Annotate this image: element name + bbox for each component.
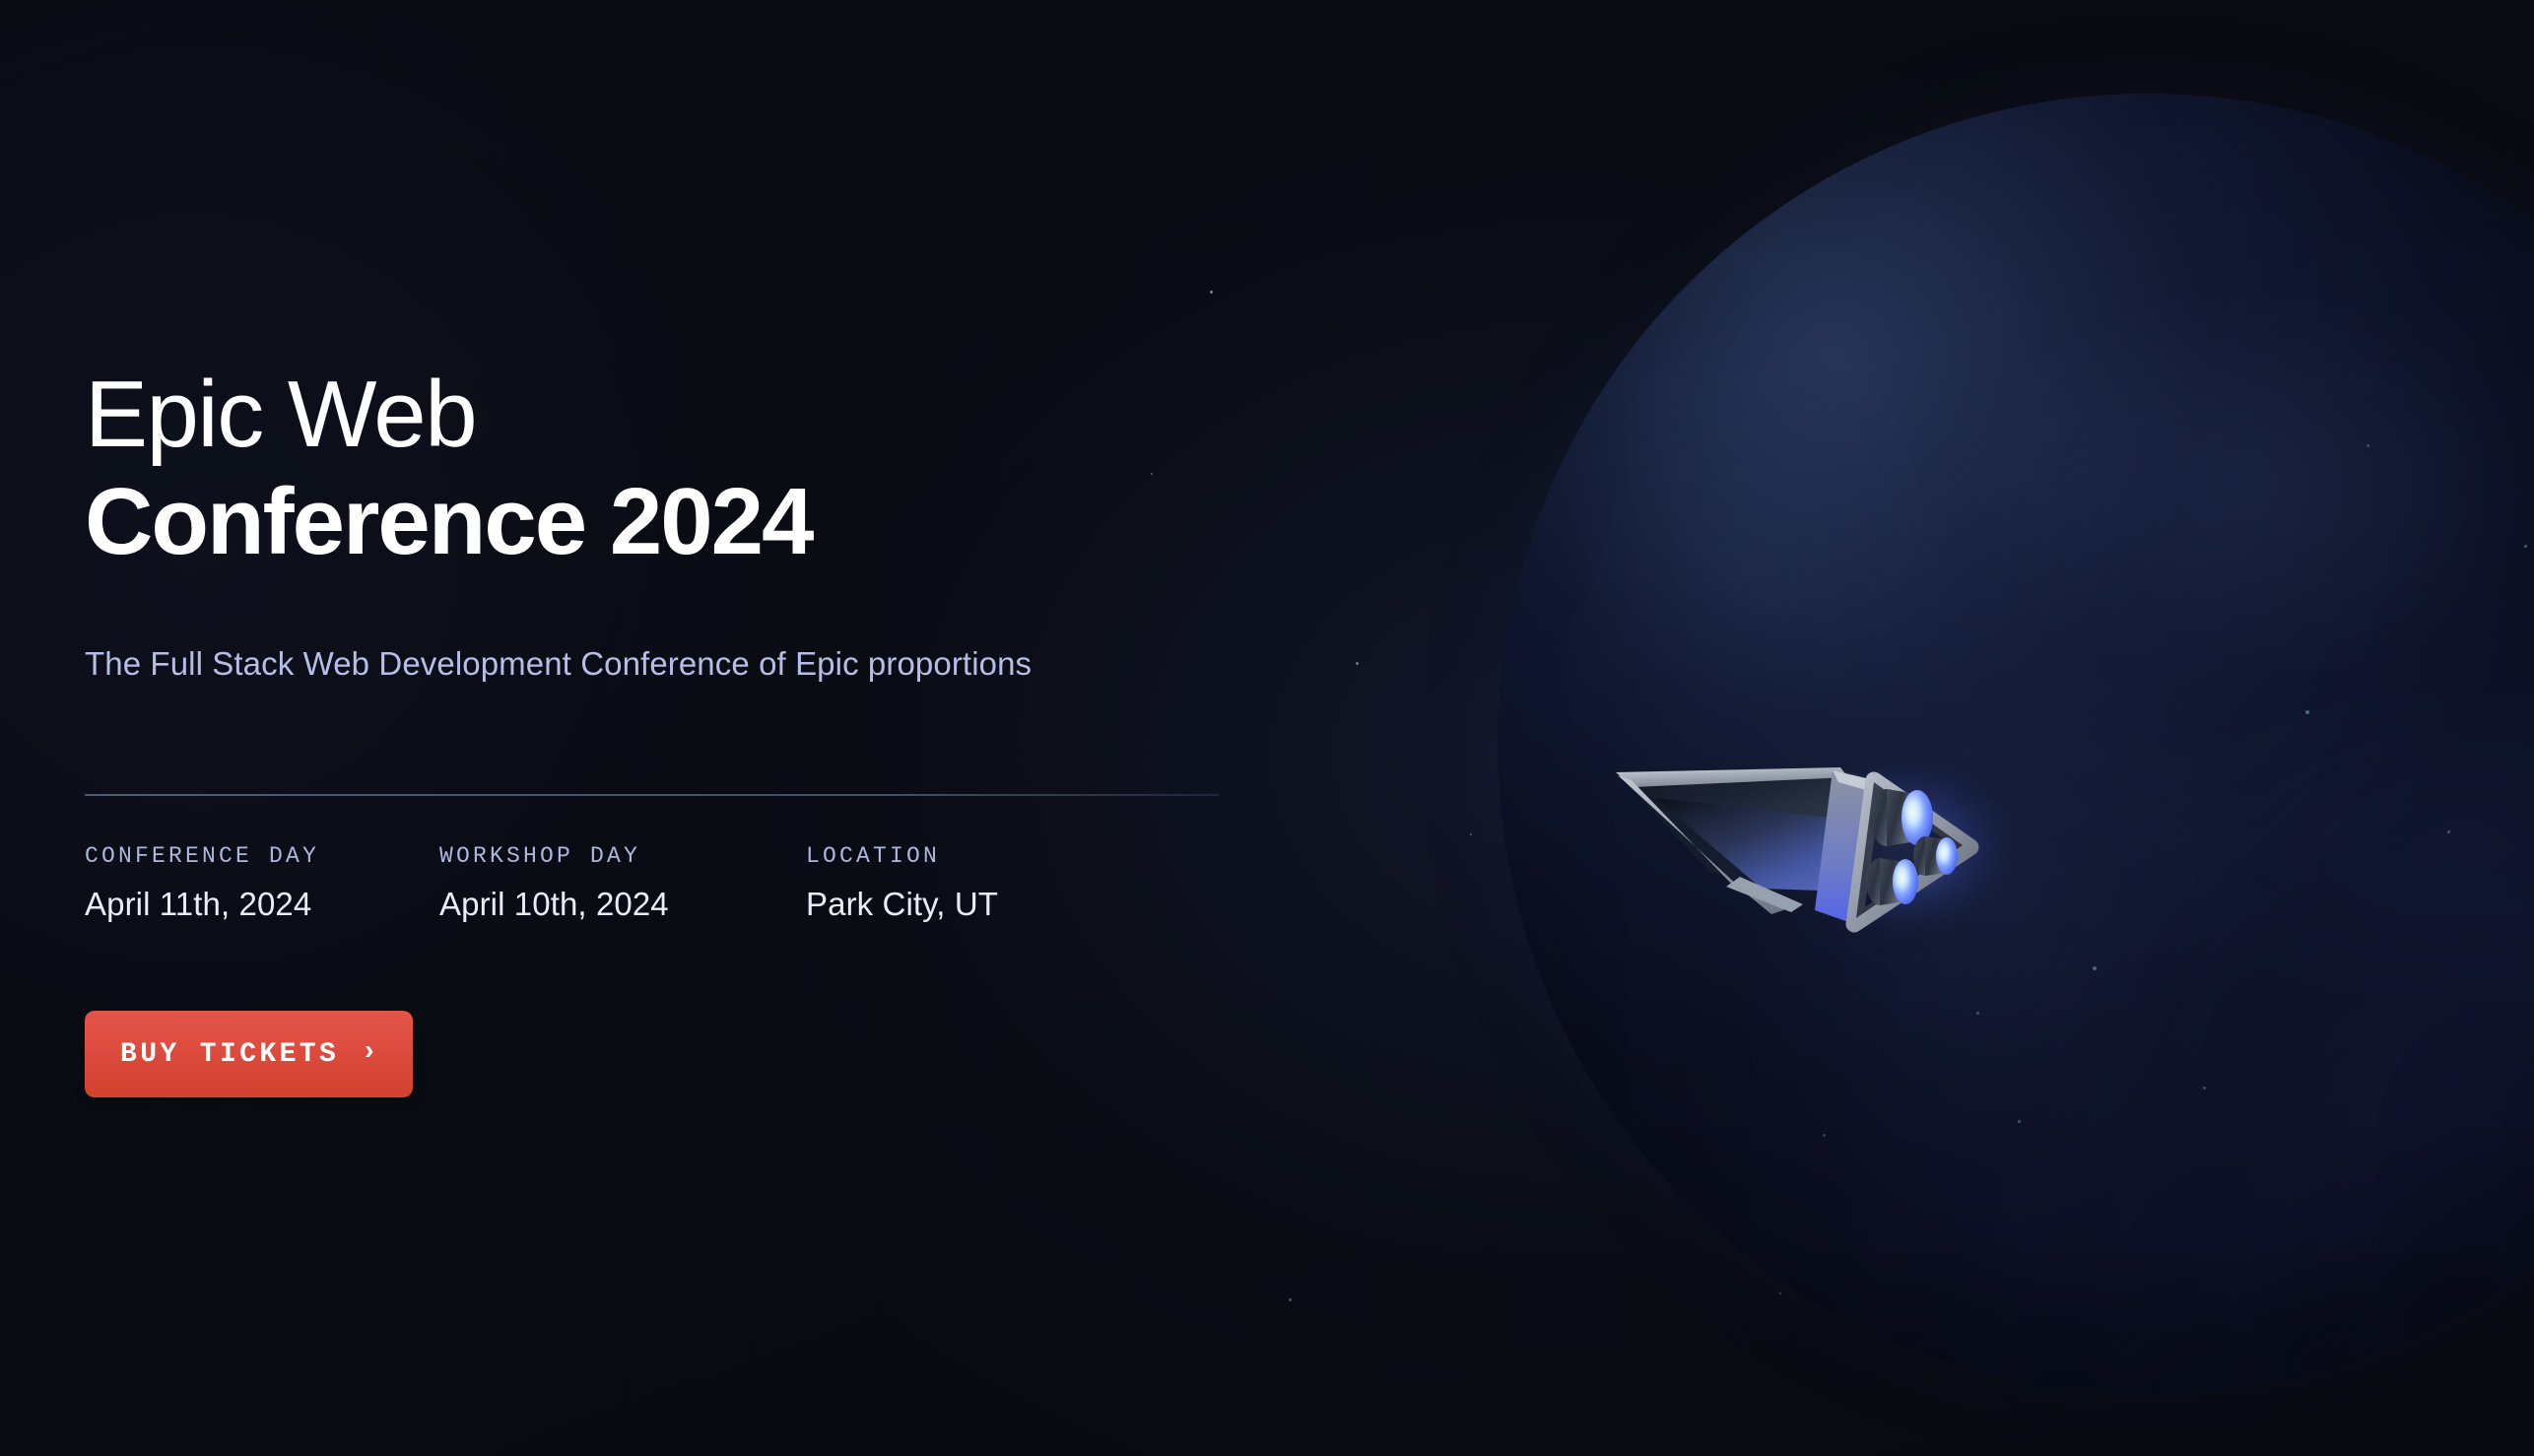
planet-terminator-highlight (1498, 94, 2534, 1394)
detail-value: April 10th, 2024 (439, 886, 806, 923)
page-title: Epic Web Conference 2024 (85, 361, 812, 576)
star (1356, 662, 1359, 665)
detail-location: LOCATION Park City, UT (806, 843, 998, 923)
engine-thruster (1870, 789, 1933, 846)
star (2317, 418, 2319, 420)
detail-label: LOCATION (806, 843, 998, 869)
chevron-right-icon: › (361, 1039, 377, 1067)
star (1541, 757, 1543, 759)
engine-thruster (1866, 858, 1918, 905)
detail-value: April 11th, 2024 (85, 886, 439, 923)
star (1470, 833, 1472, 835)
title-line-1: Epic Web (85, 361, 812, 468)
buy-tickets-label: BUY TICKETS (120, 1039, 339, 1070)
planet-body (1498, 94, 2534, 1394)
star (1695, 327, 1698, 330)
hero-subtitle: The Full Stack Web Development Conferenc… (85, 645, 1032, 683)
detail-value: Park City, UT (806, 886, 998, 923)
detail-workshop-day: WORKSHOP DAY April 10th, 2024 (439, 843, 806, 923)
planet-surface-clouds (1498, 94, 2534, 1394)
planet-foreground-stars (1498, 94, 2534, 1394)
buy-tickets-button[interactable]: BUY TICKETS › (85, 1011, 413, 1097)
hero-section: Epic Web Conference 2024 The Full Stack … (0, 0, 2534, 1456)
planet-illustration (1498, 94, 2534, 1394)
planet-atmosphere-bloom (1369, 0, 2534, 1456)
star (2449, 1088, 2452, 1091)
planet-atmosphere-rim (1440, 36, 2534, 1451)
detail-conference-day: CONFERENCE DAY April 11th, 2024 (85, 843, 439, 923)
spaceship-illustration (1507, 741, 2010, 928)
star (2065, 1046, 2068, 1049)
star (2108, 1367, 2110, 1369)
hero-content: Epic Web Conference 2024 The Full Stack … (85, 0, 1316, 1456)
star (2195, 1371, 2198, 1374)
detail-label: WORKSHOP DAY (439, 843, 806, 869)
engine-thruster (1913, 836, 1958, 876)
event-details: CONFERENCE DAY April 11th, 2024 WORKSHOP… (85, 843, 998, 923)
divider (85, 794, 1219, 796)
star (2171, 232, 2174, 235)
detail-label: CONFERENCE DAY (85, 843, 439, 869)
title-line-2: Conference 2024 (85, 468, 812, 575)
star (1779, 1292, 1781, 1294)
